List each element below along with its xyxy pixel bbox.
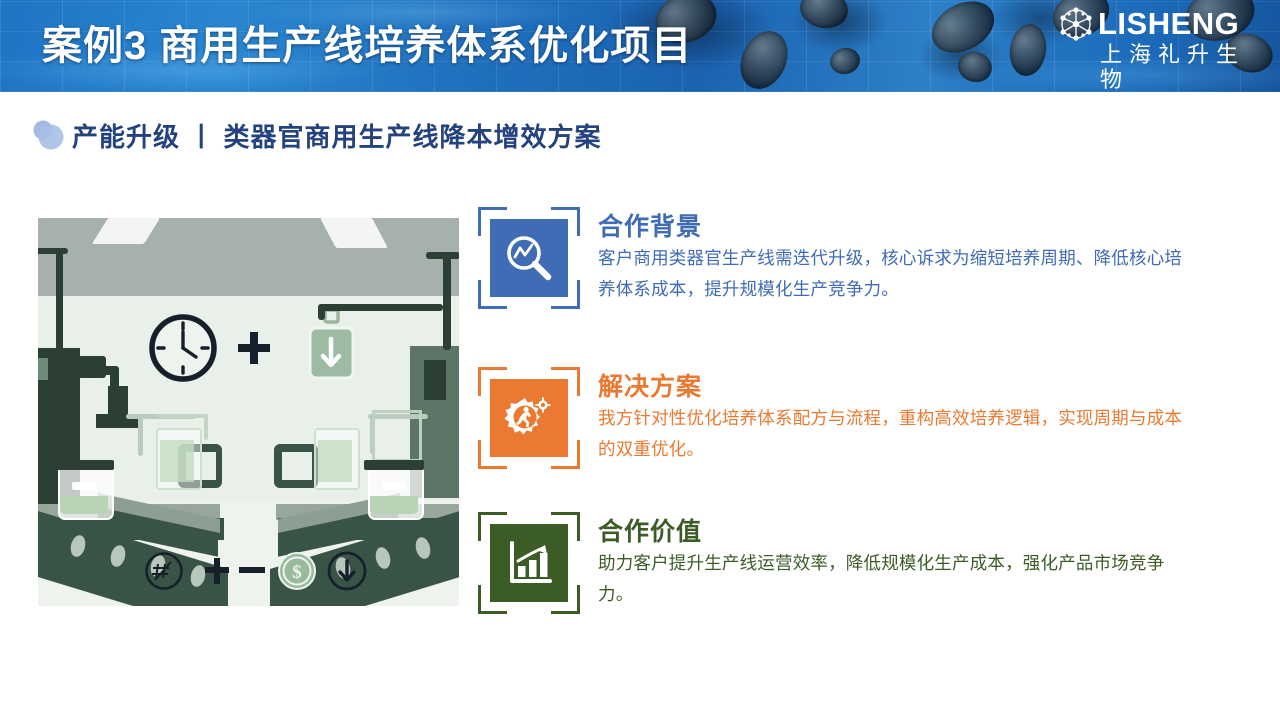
plus-minus-icon: [205, 556, 267, 586]
gear-runner-icon: [503, 392, 555, 444]
bottle-down-arrow-icon: [306, 306, 356, 384]
clock-icon: [148, 313, 218, 383]
block-body-cooperation-value: 助力客户提升生产线运营效率，降低规模化生产成本，强化产品市场竞争力。: [598, 548, 1188, 610]
no-hash-icon: [144, 551, 184, 591]
icon-frame-cooperation-value: [478, 512, 580, 614]
down-arrow-icon: [326, 550, 368, 592]
molecule-network-logo-mark: [1056, 5, 1096, 43]
icon-frame-cooperation-background: [478, 207, 580, 309]
section-subtitle: 产能升级 丨 类器官商用生产线降本增效方案: [30, 113, 601, 157]
logo-wordmark: LISHENG: [1098, 8, 1239, 40]
dollar-coin-icon: $: [276, 550, 318, 592]
block-heading-solution: 解决方案: [598, 367, 702, 403]
block-heading-cooperation-background: 合作背景: [598, 207, 702, 243]
block-body-cooperation-background: 客户商用类器官生产线需迭代升级，核心诉求为缩短培养周期、降低核心培养体系成本，提…: [598, 243, 1188, 305]
plus-icon: [236, 330, 272, 366]
icon-frame-solution: [478, 367, 580, 469]
logo-chinese-name: 上海礼升生物: [1100, 43, 1266, 92]
magnifier-chart-icon: [503, 232, 555, 284]
section-subtitle-text: 产能升级 丨 类器官商用生产线降本增效方案: [72, 117, 601, 154]
page-title: 案例3 商用生产线培养体系优化项目: [42, 13, 692, 71]
svg-text:$: $: [292, 562, 302, 583]
bioproduction-line-illustration: $: [38, 218, 459, 606]
block-heading-cooperation-value: 合作价值: [598, 512, 702, 548]
bar-chart-growth-icon: [503, 537, 555, 589]
double-circle-bullet-icon: [30, 119, 66, 151]
block-body-solution: 我方针对性优化培养体系配方与流程，重构高效培养逻辑，实现周期与成本的双重优化。: [598, 403, 1188, 465]
company-logo: LISHENG 上海礼升生物 Shanghai Lisheng Biotech: [1056, 4, 1266, 88]
